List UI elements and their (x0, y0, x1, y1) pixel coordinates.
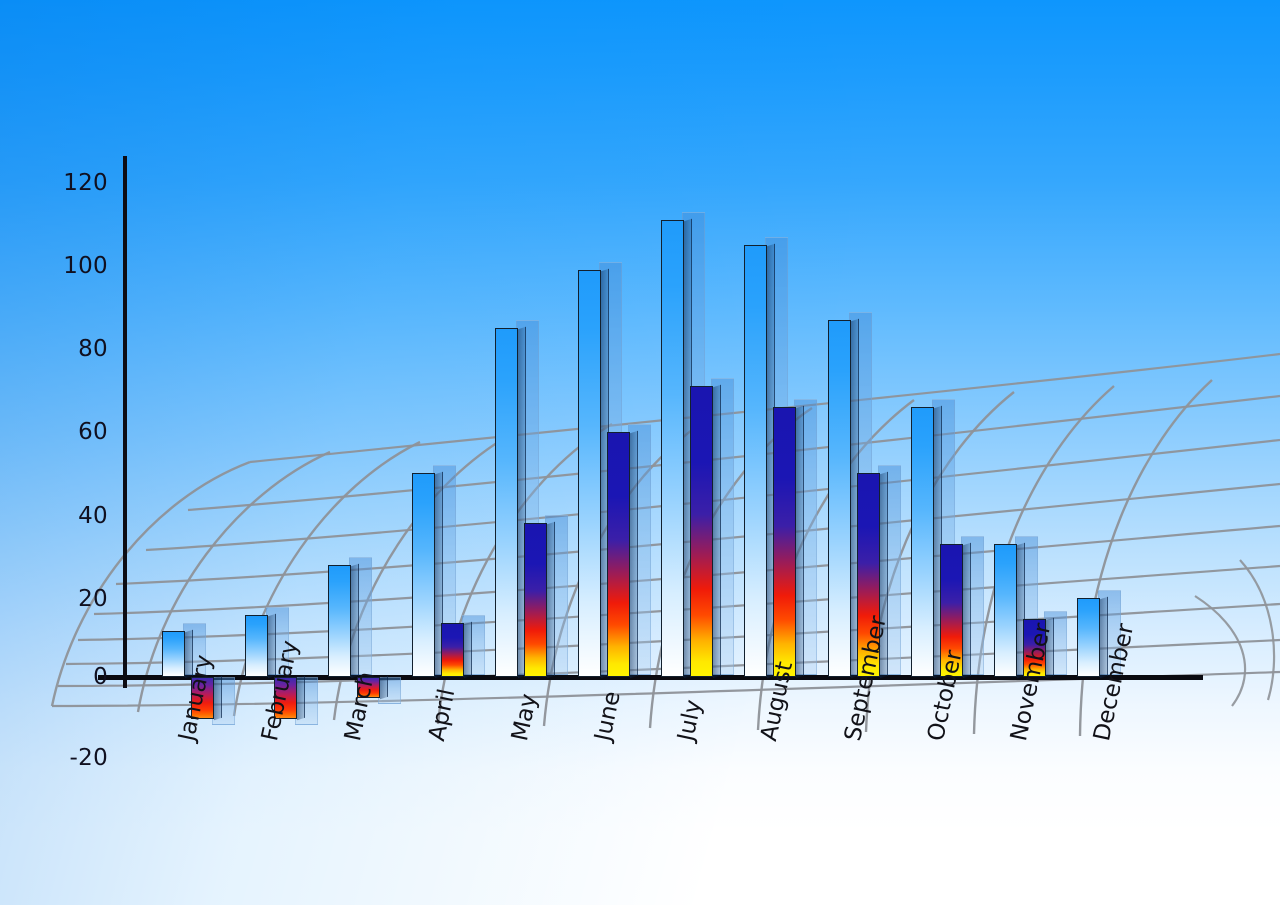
bar-september-series1[interactable] (828, 320, 851, 677)
chart-canvas: 120 100 80 60 40 20 0 -20 JanuaryFebruar… (0, 0, 1280, 905)
bar-side-3d (630, 431, 638, 679)
y-tick-neg20: -20 (42, 745, 108, 771)
y-tick-0: 0 (42, 664, 108, 690)
bar-face (441, 623, 464, 677)
y-tick-20: 20 (42, 586, 108, 612)
bar-side-3d (297, 676, 305, 720)
bar-january-series1[interactable] (162, 631, 185, 677)
y-tick-60: 60 (42, 419, 108, 445)
bar-face (773, 407, 796, 677)
y-axis-line (123, 156, 127, 688)
bar-april-series2[interactable] (441, 623, 464, 677)
bar-side-3d (547, 522, 555, 678)
bar-face (328, 565, 351, 677)
bar-face (245, 615, 268, 677)
bar-face (911, 407, 934, 677)
bar-face (162, 631, 185, 677)
bar-side-3d (713, 385, 721, 678)
bar-face (744, 245, 767, 677)
y-tick-120: 120 (42, 170, 108, 196)
bar-july-series2[interactable] (690, 386, 713, 677)
bar-june-series2[interactable] (607, 432, 630, 677)
bar-face (578, 270, 601, 677)
bar-face (690, 386, 713, 677)
bar-november-series1[interactable] (994, 544, 1017, 677)
bar-face (828, 320, 851, 677)
bar-february-series1[interactable] (245, 615, 268, 677)
y-tick-80: 80 (42, 336, 108, 362)
bar-face (994, 544, 1017, 677)
bar-face (412, 473, 435, 677)
bar-august-series2[interactable] (773, 407, 796, 677)
bar-side-3d (380, 676, 388, 699)
bar-face (1077, 598, 1100, 677)
bar-august-series1[interactable] (744, 245, 767, 677)
bar-april-series1[interactable] (412, 473, 435, 677)
bar-december-series1[interactable] (1077, 598, 1100, 677)
bar-march-series1[interactable] (328, 565, 351, 677)
bar-side-3d (464, 622, 472, 679)
bar-side-3d (796, 406, 804, 679)
bar-face (607, 432, 630, 677)
bar-october-series1[interactable] (911, 407, 934, 677)
bar-face (524, 523, 547, 677)
bar-may-series2[interactable] (524, 523, 547, 677)
bar-face (495, 328, 518, 677)
y-tick-40: 40 (42, 503, 108, 529)
bar-june-series1[interactable] (578, 270, 601, 677)
bar-side-3d (214, 676, 222, 720)
bar-may-series1[interactable] (495, 328, 518, 677)
bar-face (661, 220, 684, 677)
bar-july-series1[interactable] (661, 220, 684, 677)
y-tick-100: 100 (42, 253, 108, 279)
bar-side-3d (351, 564, 359, 679)
